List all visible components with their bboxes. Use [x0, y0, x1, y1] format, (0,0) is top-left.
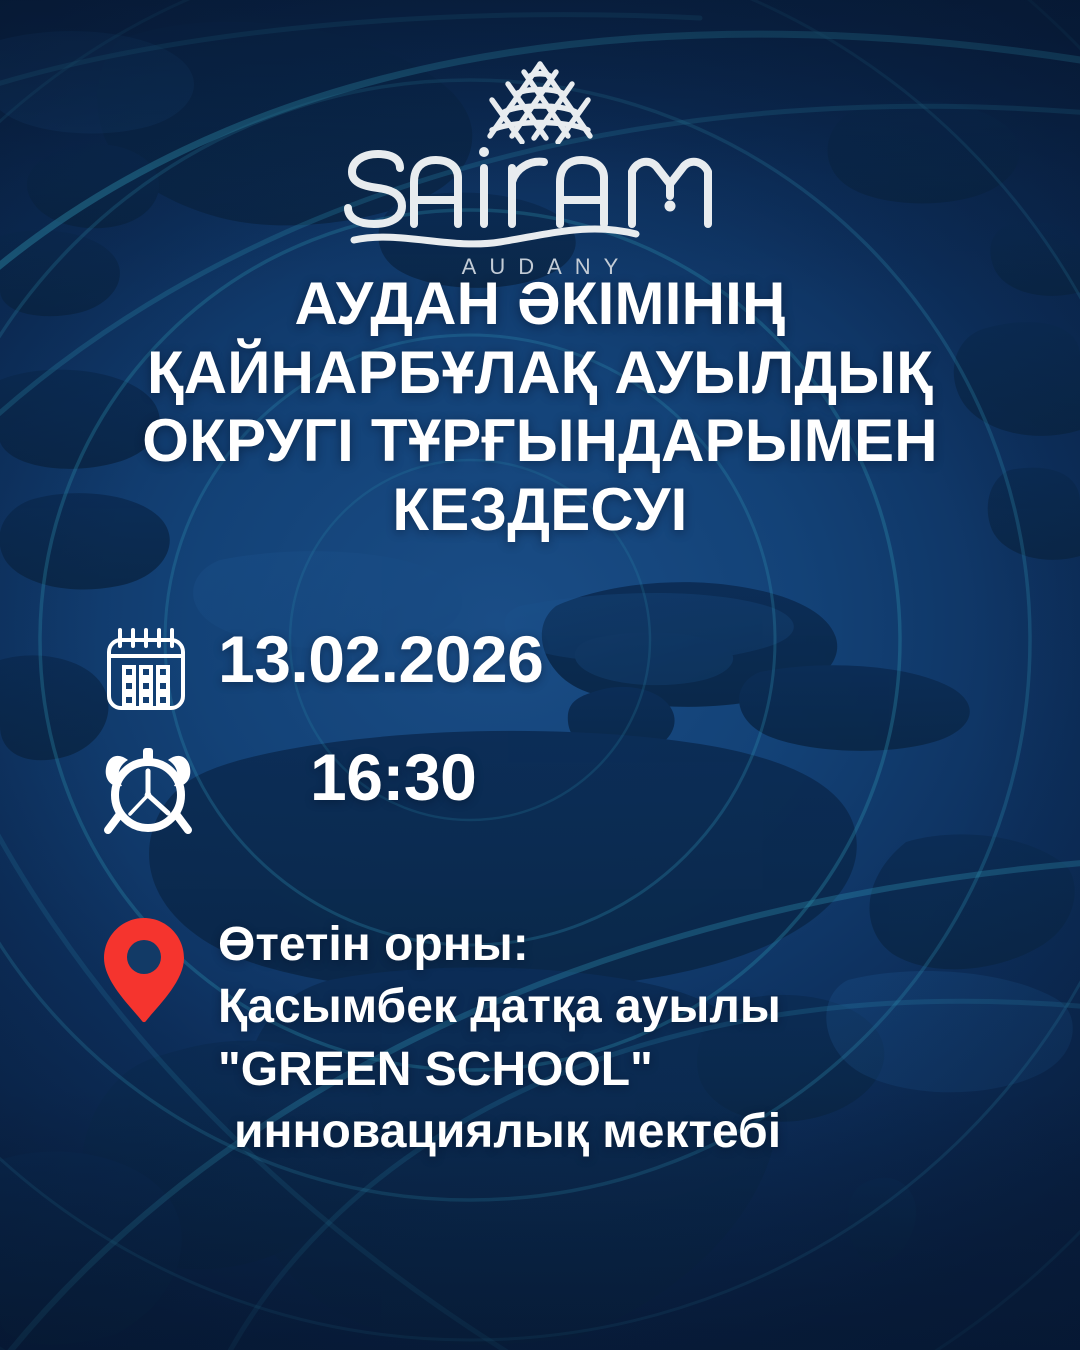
- title-line-2: ҚАЙНАРБҰЛАҚ АУЫЛДЫҚ: [120, 339, 960, 408]
- map-pin-icon: [100, 914, 188, 1026]
- location-line-3: "GREEN SCHOOL": [218, 1039, 781, 1101]
- time-row: 16:30: [100, 736, 1030, 836]
- date-value: 13.02.2026: [218, 618, 543, 692]
- brand-logo: AUDANY: [0, 58, 1080, 280]
- event-details: 13.02.2026: [100, 618, 1030, 1164]
- alarm-clock-icon: [100, 740, 196, 836]
- poster-canvas: AUDANY АУДАН ӘКІМІНІҢ ҚАЙНАРБҰЛАҚ АУЫЛДЫ…: [0, 0, 1080, 1350]
- location-line-1: Өтетін орны:: [218, 914, 781, 976]
- time-value: 16:30: [310, 736, 476, 810]
- date-row: 13.02.2026: [100, 618, 1030, 714]
- woven-lattice-ornament-icon: [446, 58, 634, 144]
- time-icon-cell: [100, 736, 200, 836]
- date-icon-cell: [100, 618, 200, 714]
- title-line-3: ОКРУГІ ТҰРҒЫНДАРЫМЕН: [120, 407, 960, 476]
- location-text: Өтетін орны: Қасымбек датқа ауылы "GREEN…: [218, 914, 781, 1164]
- location-icon-cell: [100, 914, 200, 1026]
- calendar-icon: [100, 622, 192, 714]
- location-row: Өтетін орны: Қасымбек датқа ауылы "GREEN…: [100, 914, 1030, 1164]
- title-line-1: АУДАН ӘКІМІНІҢ: [120, 270, 960, 339]
- location-line-4: инновациялық мектебі: [218, 1101, 781, 1163]
- location-line-2: Қасымбек датқа ауылы: [218, 976, 781, 1038]
- announcement-title: АУДАН ӘКІМІНІҢ ҚАЙНАРБҰЛАҚ АУЫЛДЫҚ ОКРУГ…: [120, 270, 960, 545]
- title-line-4: КЕЗДЕСУІ: [120, 476, 960, 545]
- brand-wordmark: [340, 138, 740, 248]
